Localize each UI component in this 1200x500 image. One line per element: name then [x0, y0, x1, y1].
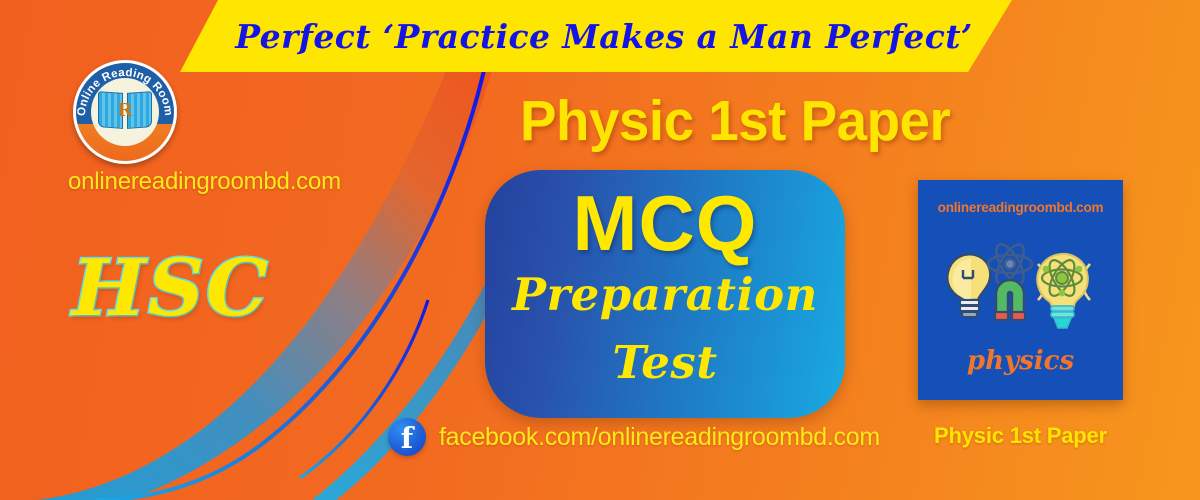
- physics-icon-group: [938, 238, 1103, 333]
- mcq-subtitle-line2: Test: [485, 336, 845, 389]
- page-title: Physic 1st Paper: [520, 88, 950, 154]
- physics-card-caption: Physic 1st Paper: [918, 423, 1123, 449]
- logo-arc-text: Online Reading Room: [73, 60, 177, 164]
- lightbulb-icon: [947, 254, 990, 317]
- mcq-heading: MCQ: [485, 178, 845, 269]
- lightbulb-atom-icon: [1037, 254, 1090, 328]
- site-url-text[interactable]: onlinereadingroombd.com: [68, 168, 341, 196]
- mcq-subtitle-line1: Preparation: [485, 268, 845, 321]
- brand-logo[interactable]: R Online Reading Room: [73, 60, 177, 164]
- physics-subject-card[interactable]: onlinereadingroombd.com: [918, 180, 1123, 400]
- facebook-icon[interactable]: f: [388, 418, 426, 456]
- level-label: HSC: [72, 243, 270, 334]
- mcq-preparation-panel[interactable]: MCQ Preparation Test: [485, 170, 845, 418]
- magnet-icon: [995, 280, 1025, 320]
- facebook-url-text: facebook.com/onlinereadingroombd.com: [439, 423, 880, 452]
- physics-card-url: onlinereadingroombd.com: [918, 200, 1123, 215]
- facebook-icon-glyph: f: [401, 424, 413, 453]
- facebook-link[interactable]: f facebook.com/onlinereadingroombd.com: [388, 418, 880, 456]
- logo-arc-label: Online Reading Room: [76, 67, 174, 117]
- promo-banner: Perfect ‘Practice Makes a Man Perfect’ R…: [0, 0, 1200, 500]
- physics-subject-word: physics: [918, 346, 1123, 376]
